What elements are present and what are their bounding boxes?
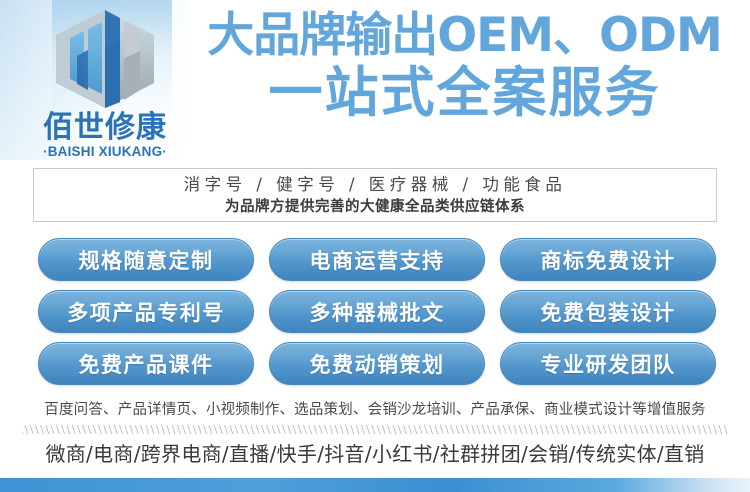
feature-pill[interactable]: 规格随意定制 [38,238,254,281]
subtitle-categories: 消字号 / 健字号 / 医疗器械 / 功能食品 [34,173,716,198]
feature-pill[interactable]: 免费动销策划 [269,342,485,385]
brand-name-cn: 佰世修康 [20,112,190,144]
feature-pill[interactable]: 免费包装设计 [500,290,716,333]
feature-pill-row: 免费产品课件 免费动销策划 专业研发团队 [38,342,716,385]
feature-pill[interactable]: 多种器械批文 [269,290,485,333]
feature-pill-grid: 规格随意定制 电商运营支持 商标免费设计 多项产品专利号 多种器械批文 免费包装… [38,238,716,394]
value-added-services-text: 百度问答、产品详情页、小视频制作、选品策划、会销沙龙培训、产品承保、商业模式设计… [0,398,750,419]
headline-line-1: 大品牌输出OEM、ODM [192,12,737,60]
feature-pill[interactable]: 商标免费设计 [500,238,716,281]
feature-pill-row: 规格随意定制 电商运营支持 商标免费设计 [38,238,716,281]
bottom-accent-bar [0,478,750,492]
promo-banner: 佰世修康 ·BAISHI XIUKANG· 大品牌输出OEM、ODM 一站式全案… [0,0,750,492]
feature-pill-row: 多项产品专利号 多种器械批文 免费包装设计 [38,290,716,333]
headline: 大品牌输出OEM、ODM 一站式全案服务 [192,12,737,120]
feature-pill[interactable]: 免费产品课件 [38,342,254,385]
brand-name-en: ·BAISHI XIUKANG· [20,145,190,159]
brand-logo: 佰世修康 ·BAISHI XIUKANG· [20,8,190,158]
feature-pill[interactable]: 电商运营支持 [269,238,485,281]
subtitle-tagline: 为品牌方提供完善的大健康全品类供应链体系 [34,198,716,218]
hatch-divider [22,425,728,434]
headline-line-2: 一站式全案服务 [192,65,737,120]
feature-pill[interactable]: 专业研发团队 [500,342,716,385]
hexagon-building-logo-icon [50,8,160,110]
subtitle-box: 消字号 / 健字号 / 医疗器械 / 功能食品 为品牌方提供完善的大健康全品类供… [33,168,717,222]
sales-channels-text: 微商/电商/跨界电商/直播/快手/抖音/小红书/社群拼团/会销/传统实体/直销 [0,438,750,467]
feature-pill[interactable]: 多项产品专利号 [38,290,254,333]
